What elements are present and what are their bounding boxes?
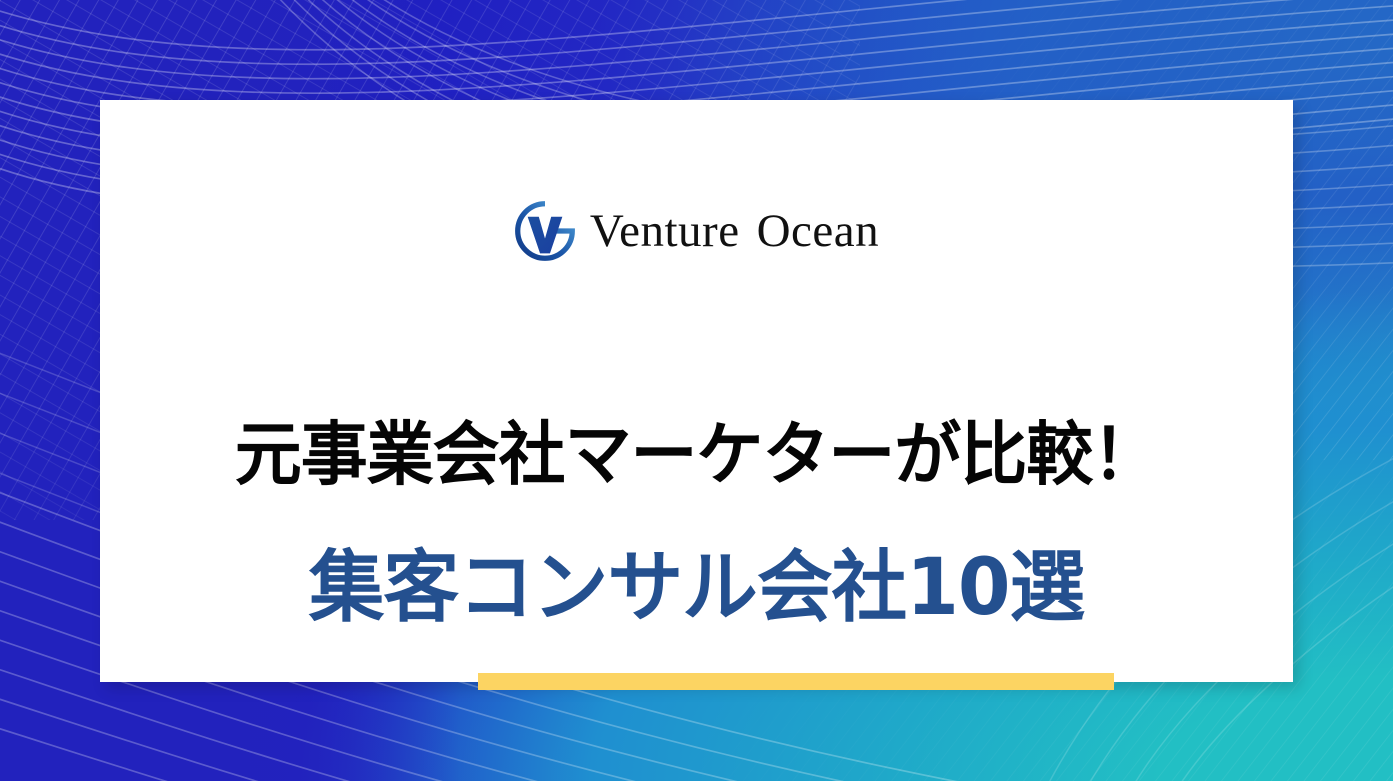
content-card: VentureOcean 元事業会社マーケターが比較！ 集客コンサル会社10選 [100,100,1293,682]
headline-secondary: 集客コンサル会社10選 [118,549,1275,627]
slide-canvas: VentureOcean 元事業会社マーケターが比較！ 集客コンサル会社10選 [0,0,1393,781]
accent-underline-bar [478,673,1114,690]
headline-primary: 元事業会社マーケターが比較！ [118,421,1275,490]
brand-lockup: VentureOcean [100,200,1293,262]
venture-ocean-circle-v-logo-icon [514,200,576,262]
brand-wordmark: VentureOcean [590,208,879,255]
brand-word-venture: Venture [590,205,740,257]
brand-word-ocean: Ocean [757,205,880,257]
